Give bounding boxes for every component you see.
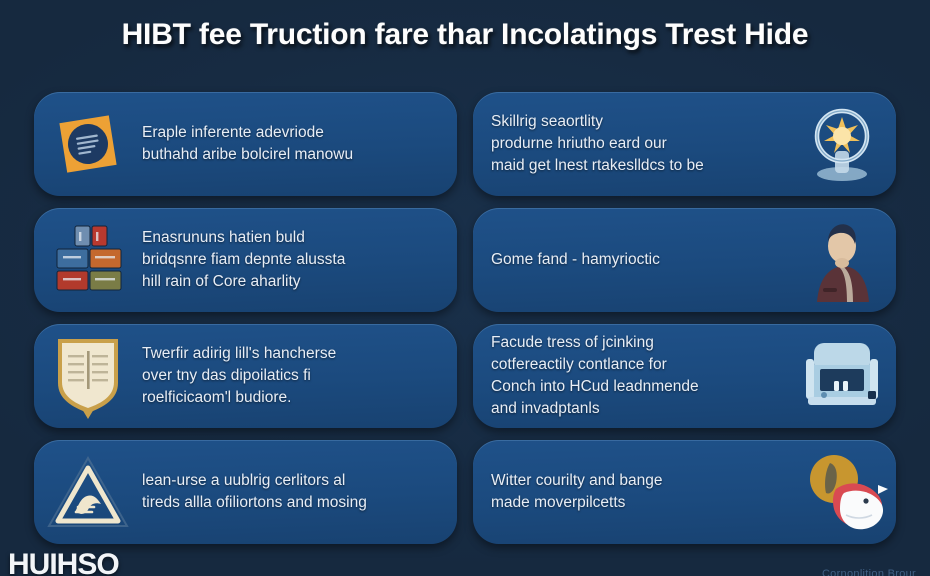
orange-diamond-badge-icon <box>34 92 142 196</box>
card-text: Twerfir adirig lill's hancherse over tny… <box>142 343 457 409</box>
card-item[interactable]: Gome fand - hamyrioctic <box>473 208 896 312</box>
person-portrait-icon <box>788 208 896 312</box>
card-line: bridqsnre fiam depnte alussta <box>142 249 443 271</box>
card-item[interactable]: Twerfir adirig lill's hancherse over tny… <box>34 324 457 428</box>
card-line: over tny das dipoilatics fi <box>142 365 443 387</box>
card-item[interactable]: Enasrununs hatien buld bridqsnre fiam de… <box>34 208 457 312</box>
title-bar: HIBT fee Truction fare thar Incolatings … <box>0 18 930 52</box>
card-item[interactable]: Skillrig seaortlity produrne hriutho ear… <box>473 92 896 196</box>
machine-equipment-icon <box>788 324 896 428</box>
card-line: Facude tress of jcinking <box>491 332 788 354</box>
warning-triangle-icon <box>34 440 142 544</box>
card-line: produrne hriutho eard our <box>491 133 788 155</box>
color-blocks-grid-icon <box>34 208 142 312</box>
card-line: Gome fand - hamyrioctic <box>491 249 788 271</box>
brand-logo: HUIHSO <box>8 548 119 576</box>
card-line: cotfereactily contlance for <box>491 354 788 376</box>
card-line: tireds allla ofiliortons and mosing <box>142 492 443 514</box>
footer-note: Cornonlition Brour <box>822 568 916 576</box>
card-grid: Eraple inferente adevriode buthahd aribe… <box>34 92 896 544</box>
card-line: Enasrununs hatien buld <box>142 227 443 249</box>
card-line: and invadptanls <box>491 398 788 420</box>
card-item[interactable]: Witter courilty and bange made moverpilc… <box>473 440 896 544</box>
card-text: Gome fand - hamyrioctic <box>473 249 788 271</box>
card-line: Twerfir adirig lill's hancherse <box>142 343 443 365</box>
card-line: Witter courilty and bange <box>491 470 788 492</box>
card-line: lean-urse a uublrig cerlitors al <box>142 470 443 492</box>
gold-circle-bird-icon <box>788 440 896 544</box>
card-line: buthahd aribe bolcirel manowu <box>142 144 443 166</box>
card-line: hill rain of Core aharlity <box>142 271 443 293</box>
page-title: HIBT fee Truction fare thar Incolatings … <box>122 18 809 52</box>
card-item[interactable]: Facude tress of jcinking cotfereactily c… <box>473 324 896 428</box>
card-line: made moverpilcetts <box>491 492 788 514</box>
card-line: Eraple inferente adevriode <box>142 122 443 144</box>
card-text: Skillrig seaortlity produrne hriutho ear… <box>473 111 788 177</box>
card-line: maid get lnest rtakeslldcs to be <box>491 155 788 177</box>
card-text: Enasrununs hatien buld bridqsnre fiam de… <box>142 227 457 293</box>
card-text: Witter courilty and bange made moverpilc… <box>473 470 788 514</box>
card-item[interactable]: Eraple inferente adevriode buthahd aribe… <box>34 92 457 196</box>
card-text: Eraple inferente adevriode buthahd aribe… <box>142 122 457 166</box>
card-line: Skillrig seaortlity <box>491 111 788 133</box>
card-text: lean-urse a uublrig cerlitors al tireds … <box>142 470 457 514</box>
card-text: Facude tress of jcinking cotfereactily c… <box>473 332 788 420</box>
card-item[interactable]: lean-urse a uublrig cerlitors al tireds … <box>34 440 457 544</box>
shield-book-crest-icon <box>34 324 142 428</box>
card-line: roelficicaom'l budiore. <box>142 387 443 409</box>
lightbulb-lamp-icon <box>788 92 896 196</box>
card-line: Conch into HCud leadnmende <box>491 376 788 398</box>
